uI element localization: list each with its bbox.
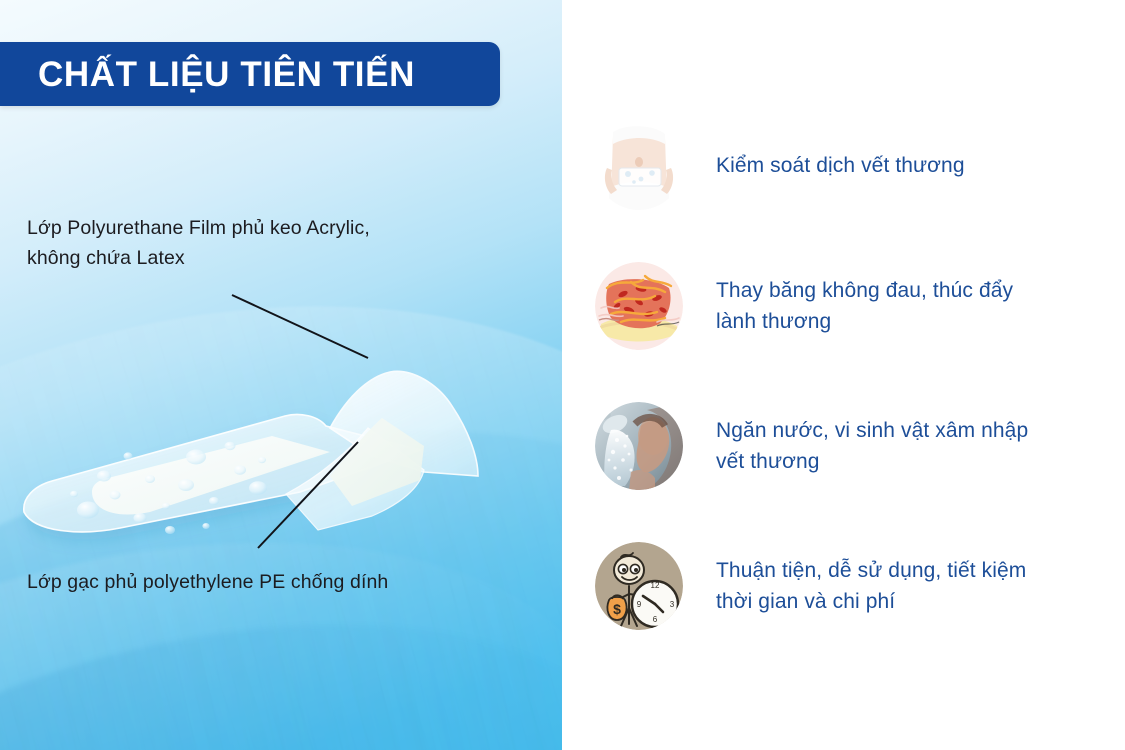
feature-item-painless-change: Thay băng không đau, thúc đẩy lành thươn… [595, 236, 1115, 376]
infographic-page: CHẤT LIỆU TIÊN TIẾN Lớp Polyurethane Fil… [0, 0, 1125, 750]
feature-label: Thuận tiện, dễ sử dụng, tiết kiệm thời g… [716, 555, 1026, 617]
page-title: CHẤT LIỆU TIÊN TIẾN [0, 57, 415, 92]
svg-text:3: 3 [670, 600, 675, 609]
callout-film-layer: Lớp Polyurethane Film phủ keo Acrylic, k… [27, 214, 497, 273]
abdomen-dressing-icon [595, 122, 683, 210]
leader-lines [0, 0, 562, 750]
feature-list: Kiểm soát dịch vết thương [595, 96, 1115, 656]
left-panel: CHẤT LIỆU TIÊN TIẾN Lớp Polyurethane Fil… [0, 0, 562, 750]
feature-label: Ngăn nước, vi sinh vật xâm nhập vết thươ… [716, 415, 1028, 477]
svg-text:$: $ [613, 601, 621, 617]
section-title-banner: CHẤT LIỆU TIÊN TIẾN [0, 42, 500, 106]
svg-text:12: 12 [651, 581, 660, 590]
money-clock-icon: $ 12 3 6 9 [595, 542, 683, 630]
feature-label: Thay băng không đau, thúc đẩy lành thươn… [716, 275, 1013, 337]
callout-gauze-layer: Lớp gạc phủ polyethylene PE chống dính [27, 568, 547, 598]
feature-item-water-barrier: Ngăn nước, vi sinh vật xâm nhập vết thươ… [595, 376, 1115, 516]
svg-text:6: 6 [653, 615, 658, 624]
leader-line-bottom [258, 442, 358, 548]
feature-item-convenience-savings: $ 12 3 6 9 Thuận tiện, dễ sử dụng, tiết … [595, 516, 1115, 656]
leader-line-top [232, 295, 368, 358]
feature-item-wound-exudate: Kiểm soát dịch vết thương [595, 96, 1115, 236]
right-panel: Kiểm soát dịch vết thương [562, 0, 1125, 750]
shower-water-icon [595, 402, 683, 490]
svg-text:9: 9 [637, 600, 642, 609]
wound-tissue-icon [595, 262, 683, 350]
feature-label: Kiểm soát dịch vết thương [716, 150, 965, 181]
